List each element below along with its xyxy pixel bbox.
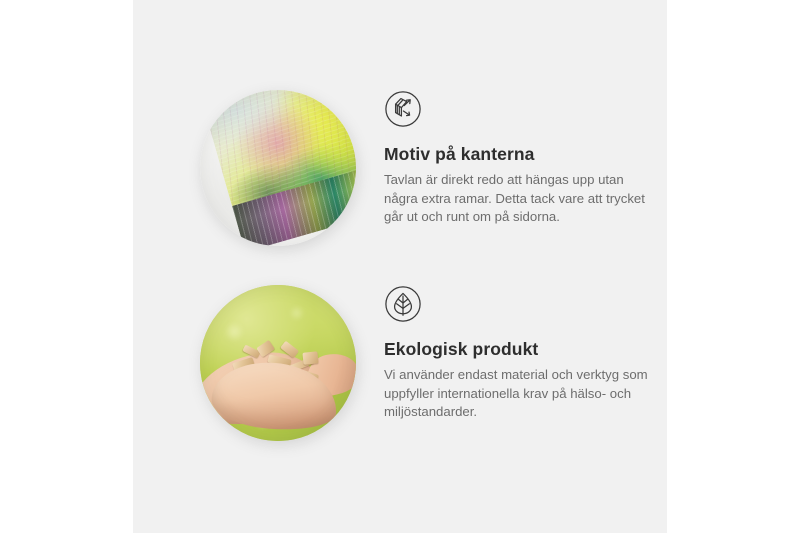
product-info-page: Motiv på kanterna Tavlan är direkt redo … [0, 0, 800, 533]
feature-title: Motiv på kanterna [384, 144, 660, 165]
feature-title: Ekologisk produkt [384, 339, 660, 360]
canvas-corner-photo [200, 90, 356, 246]
content-panel: Motiv på kanterna Tavlan är direkt redo … [133, 0, 667, 533]
feature-copy-eco: Ekologisk produkt Vi använder endast mat… [384, 285, 660, 422]
feature-description: Vi använder endast material och verktyg … [384, 366, 652, 422]
leaf-icon [384, 285, 422, 323]
canvas-wrapped-edges-icon [384, 90, 422, 128]
feature-list: Motiv på kanterna Tavlan är direkt redo … [133, 0, 667, 533]
wood-chips-in-hands-photo [200, 285, 356, 441]
feature-copy-edges: Motiv på kanterna Tavlan är direkt redo … [384, 90, 660, 227]
feature-description: Tavlan är direkt redo att hängas upp uta… [384, 171, 652, 227]
